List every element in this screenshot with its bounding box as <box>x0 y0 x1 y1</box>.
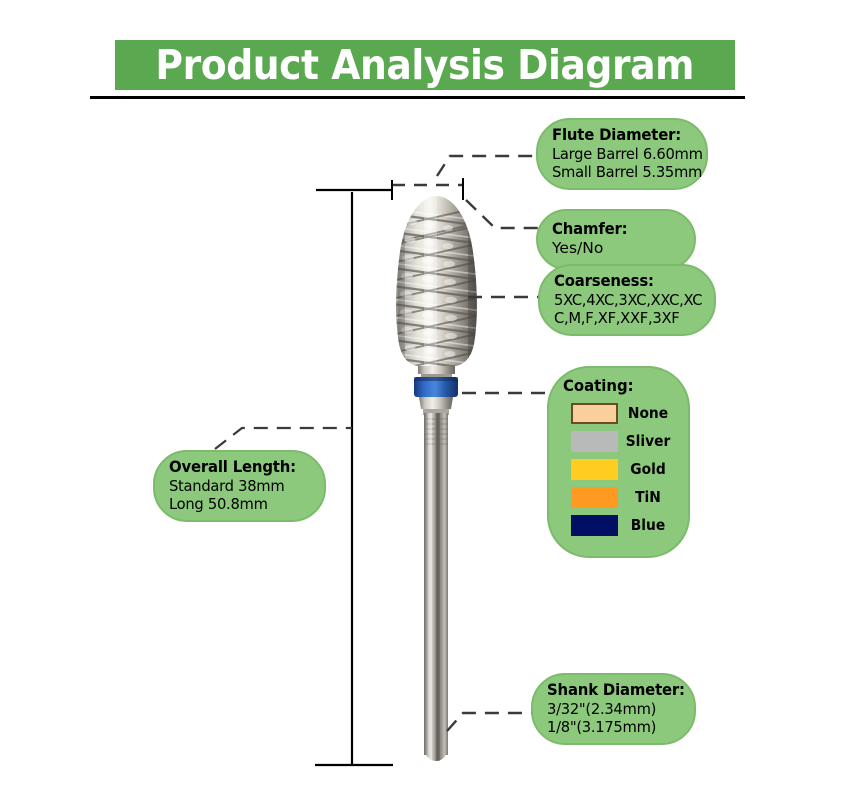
callout-flute-diameter[interactable]: Flute Diameter: Large Barrel 6.60mm Smal… <box>536 118 708 190</box>
overall-length-line-2: Long 50.8mm <box>169 495 303 513</box>
leader-line-shank-diameter <box>447 713 536 731</box>
coating-swatch-blue <box>571 515 618 536</box>
coating-swatch-none <box>571 403 618 424</box>
leader-line-chamfer <box>466 200 541 228</box>
coating-label-sliver: Sliver <box>620 433 675 451</box>
coating-swatch-gold <box>571 459 618 480</box>
overall-length-heading: Overall Length: <box>169 458 300 477</box>
leader-line-flute-diameter <box>437 156 541 176</box>
callout-coating[interactable]: Coating: None Sliver Gold TiN Blue <box>547 366 690 558</box>
callout-coarseness[interactable]: Coarseness: 5XC,4XC,3XC,XXC,XC C,M,F,XF,… <box>538 264 716 336</box>
coarseness-line-1: 5XC,4XC,3XC,XXC,XC <box>554 291 693 309</box>
coating-option-sliver[interactable]: Sliver <box>563 428 678 456</box>
coating-label-none: None <box>620 405 675 423</box>
leader-line-overall-length <box>215 428 352 449</box>
overall-length-line-1: Standard 38mm <box>169 477 303 495</box>
coating-swatch-tin <box>571 487 618 508</box>
flute-diameter-line-2: Small Barrel 5.35mm <box>552 163 685 181</box>
shank-diameter-heading: Shank Diameter: <box>547 681 671 700</box>
callout-shank-diameter[interactable]: Shank Diameter: 3/32"(2.34mm) 1/8"(3.175… <box>531 673 696 745</box>
flute-diameter-line-1: Large Barrel 6.60mm <box>552 145 685 163</box>
coarseness-heading: Coarseness: <box>554 272 690 291</box>
coating-option-blue[interactable]: Blue <box>563 512 678 540</box>
coarseness-line-2: C,M,F,XF,XXF,3XF <box>554 309 693 327</box>
coating-option-tin[interactable]: TiN <box>563 484 678 512</box>
coating-swatch-sliver <box>571 431 618 452</box>
coating-label-tin: TiN <box>620 489 675 507</box>
chamfer-heading: Chamfer: <box>552 220 627 239</box>
flute-diameter-heading: Flute Diameter: <box>552 126 682 145</box>
coating-label-blue: Blue <box>620 517 675 535</box>
dimension-and-leader-lines <box>0 0 850 799</box>
callout-overall-length[interactable]: Overall Length: Standard 38mm Long 50.8m… <box>153 450 326 522</box>
callout-chamfer[interactable]: Chamfer: Yes/No <box>536 209 696 270</box>
chamfer-value: Yes/No <box>552 239 603 257</box>
coating-option-gold[interactable]: Gold <box>563 456 678 484</box>
shank-diameter-line-1: 3/32"(2.34mm) <box>547 700 673 718</box>
coating-label-gold: Gold <box>620 461 675 479</box>
shank-diameter-line-2: 1/8"(3.175mm) <box>547 718 673 736</box>
coating-option-none[interactable]: None <box>563 400 678 428</box>
coating-heading: Coating: <box>563 377 670 396</box>
diagram-canvas: Product Analysis Diagram <box>0 0 850 799</box>
